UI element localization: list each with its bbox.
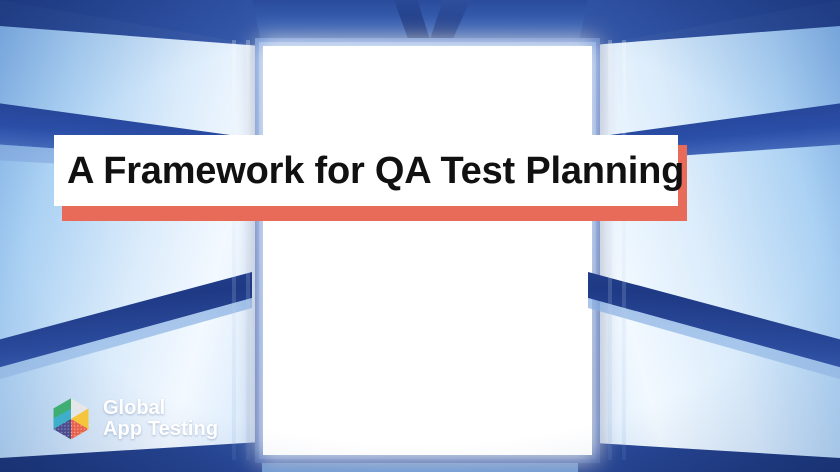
mullion-left-inner [246,40,250,460]
title-block: A Framework for QA Test Planning [54,135,688,221]
slide-canvas: A Framework for QA Test Planning [0,0,840,472]
light-panel [263,46,592,455]
title-card: A Framework for QA Test Planning [54,135,678,206]
global-app-testing-hexagon-icon [48,396,94,442]
brand-logo-line-2: App Testing [103,419,218,440]
corridor-wall-right [565,0,840,472]
mullion-right-outer [622,40,626,460]
brand-logo-wordmark: Global App Testing [103,398,218,440]
mullion-right-inner [608,40,612,460]
brand-logo: Global App Testing [48,396,218,442]
slide-title: A Framework for QA Test Planning [54,152,684,190]
brand-logo-line-1: Global [103,398,218,419]
mullion-left-outer [232,40,236,460]
